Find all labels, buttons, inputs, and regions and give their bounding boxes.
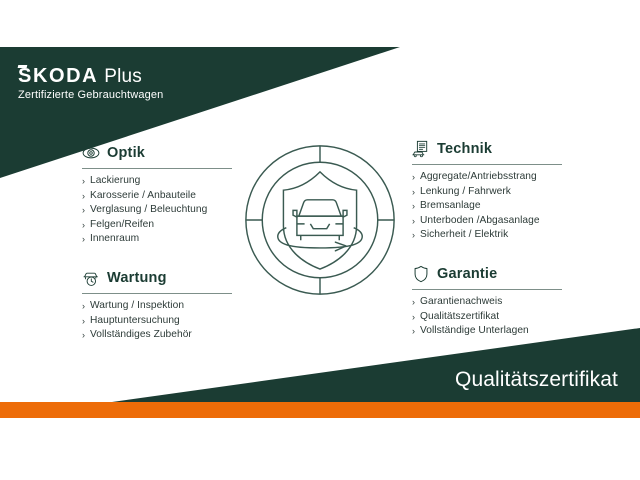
list-item: ›Felgen/Reifen bbox=[82, 218, 234, 233]
skoda-wordmark-text: SKODA bbox=[18, 65, 98, 87]
right-column: Technik ›Aggregate/Antriebsstrang ›Lenku… bbox=[412, 138, 564, 339]
brand-subtitle: Zertifizierte Gebrauchtwagen bbox=[18, 90, 163, 101]
section-technik-title: Technik bbox=[437, 141, 492, 157]
list-item-label: Innenraum bbox=[90, 233, 139, 244]
section-garantie-title: Garantie bbox=[437, 266, 497, 282]
list-item: ›Garantienachweis bbox=[412, 295, 564, 310]
section-optik-list: ›Lackierung ›Karosserie / Anbauteile ›Ve… bbox=[82, 174, 234, 247]
list-item-label: Sicherheit / Elektrik bbox=[420, 229, 508, 240]
chevron-right-icon: › bbox=[412, 170, 415, 185]
chevron-right-icon: › bbox=[412, 295, 415, 310]
emblem-car-mirror-left bbox=[293, 210, 297, 217]
list-item: ›Verglasung / Beleuchtung bbox=[82, 203, 234, 218]
list-item: ›Aggregate/Antriebsstrang bbox=[412, 170, 564, 185]
section-wartung-title: Wartung bbox=[107, 270, 167, 286]
chevron-right-icon: › bbox=[412, 310, 415, 325]
footer-caption: Qualitätszertifikat bbox=[455, 368, 618, 392]
caron-accent bbox=[18, 65, 28, 68]
section-optik-header: Optik bbox=[82, 142, 234, 164]
list-item-label: Karosserie / Anbauteile bbox=[90, 190, 196, 201]
eye-icon bbox=[82, 144, 100, 162]
list-item-label: Bremsanlage bbox=[420, 200, 481, 211]
section-garantie-rule bbox=[412, 289, 562, 290]
shield-car-circle-emblem bbox=[243, 143, 397, 297]
car-checklist-icon bbox=[412, 140, 430, 158]
section-optik-rule bbox=[82, 168, 232, 169]
list-item-label: Hauptuntersuchung bbox=[90, 315, 180, 326]
list-item-label: Verglasung / Beleuchtung bbox=[90, 204, 207, 215]
chevron-right-icon: › bbox=[82, 218, 85, 233]
section-wartung: Wartung ›Wartung / Inspektion ›Hauptunte… bbox=[82, 267, 234, 343]
list-item: ›Lackierung bbox=[82, 174, 234, 189]
list-item: ›Lenkung / Fahrwerk bbox=[412, 185, 564, 200]
section-wartung-rule bbox=[82, 293, 232, 294]
emblem-inner-ring bbox=[262, 162, 378, 278]
chevron-right-icon: › bbox=[412, 185, 415, 200]
emblem-car-mirror-right bbox=[343, 210, 347, 217]
section-garantie-list: ›Garantienachweis ›Qualitätszertifikat ›… bbox=[412, 295, 564, 339]
shield-icon bbox=[412, 265, 430, 283]
section-technik-list: ›Aggregate/Antriebsstrang ›Lenkung / Fah… bbox=[412, 170, 564, 243]
section-technik-rule bbox=[412, 164, 562, 165]
section-technik-header: Technik bbox=[412, 138, 564, 160]
section-optik-title: Optik bbox=[107, 145, 145, 161]
list-item: ›Hauptuntersuchung bbox=[82, 314, 234, 329]
chevron-right-icon: › bbox=[82, 203, 85, 218]
list-item: ›Vollständige Unterlagen bbox=[412, 324, 564, 339]
emblem-car-body bbox=[297, 216, 343, 235]
chevron-right-icon: › bbox=[412, 199, 415, 214]
section-optik: Optik ›Lackierung ›Karosserie / Anbautei… bbox=[82, 142, 234, 247]
skoda-wordmark: SKODA bbox=[18, 66, 98, 86]
list-item-label: Garantienachweis bbox=[420, 296, 502, 307]
section-wartung-header: Wartung bbox=[82, 267, 234, 289]
list-item: ›Sicherheit / Elektrik bbox=[412, 228, 564, 243]
chevron-right-icon: › bbox=[412, 228, 415, 243]
list-item-label: Lenkung / Fahrwerk bbox=[420, 186, 511, 197]
list-item-label: Aggregate/Antriebsstrang bbox=[420, 171, 537, 182]
car-service-clock-icon bbox=[82, 269, 100, 287]
list-item: ›Qualitätszertifikat bbox=[412, 310, 564, 325]
emblem-orbit bbox=[278, 228, 362, 248]
list-item: ›Karosserie / Anbauteile bbox=[82, 189, 234, 204]
orange-bar bbox=[0, 402, 640, 418]
chevron-right-icon: › bbox=[82, 314, 85, 329]
list-item: ›Bremsanlage bbox=[412, 199, 564, 214]
emblem-shield bbox=[283, 172, 356, 269]
brand-suffix: Plus bbox=[104, 67, 142, 86]
brand-lockup: SKODA Plus Zertifizierte Gebrauchtwagen bbox=[18, 66, 163, 101]
chevron-right-icon: › bbox=[82, 174, 85, 189]
list-item: ›Wartung / Inspektion bbox=[82, 299, 234, 314]
chevron-right-icon: › bbox=[82, 189, 85, 204]
list-item: ›Vollständiges Zubehör bbox=[82, 328, 234, 343]
list-item-label: Qualitätszertifikat bbox=[420, 311, 499, 322]
chevron-right-icon: › bbox=[82, 299, 85, 314]
list-item-label: Felgen/Reifen bbox=[90, 219, 154, 230]
brand-row: SKODA Plus bbox=[18, 66, 163, 86]
section-wartung-list: ›Wartung / Inspektion ›Hauptuntersuchung… bbox=[82, 299, 234, 343]
chevron-right-icon: › bbox=[412, 324, 415, 339]
certificate-banner: SKODA Plus Zertifizierte Gebrauchtwagen … bbox=[0, 0, 640, 480]
right-column-spacer bbox=[412, 243, 564, 263]
list-item-label: Unterboden /Abgasanlage bbox=[420, 215, 540, 226]
list-item-label: Vollständiges Zubehör bbox=[90, 329, 192, 340]
emblem-car-roof bbox=[299, 200, 341, 216]
chevron-right-icon: › bbox=[412, 214, 415, 229]
left-column-spacer bbox=[82, 247, 234, 267]
section-technik: Technik ›Aggregate/Antriebsstrang ›Lenku… bbox=[412, 138, 564, 243]
list-item-label: Wartung / Inspektion bbox=[90, 300, 184, 311]
emblem-car-grille bbox=[310, 224, 329, 229]
section-garantie: Garantie ›Garantienachweis ›Qualitätszer… bbox=[412, 263, 564, 339]
chevron-right-icon: › bbox=[82, 232, 85, 247]
emblem-outer-ring bbox=[246, 146, 394, 294]
list-item: ›Innenraum bbox=[82, 232, 234, 247]
section-garantie-header: Garantie bbox=[412, 263, 564, 285]
chevron-right-icon: › bbox=[82, 328, 85, 343]
left-column: Optik ›Lackierung ›Karosserie / Anbautei… bbox=[82, 142, 234, 343]
list-item-label: Vollständige Unterlagen bbox=[420, 325, 529, 336]
list-item: ›Unterboden /Abgasanlage bbox=[412, 214, 564, 229]
list-item-label: Lackierung bbox=[90, 175, 140, 186]
